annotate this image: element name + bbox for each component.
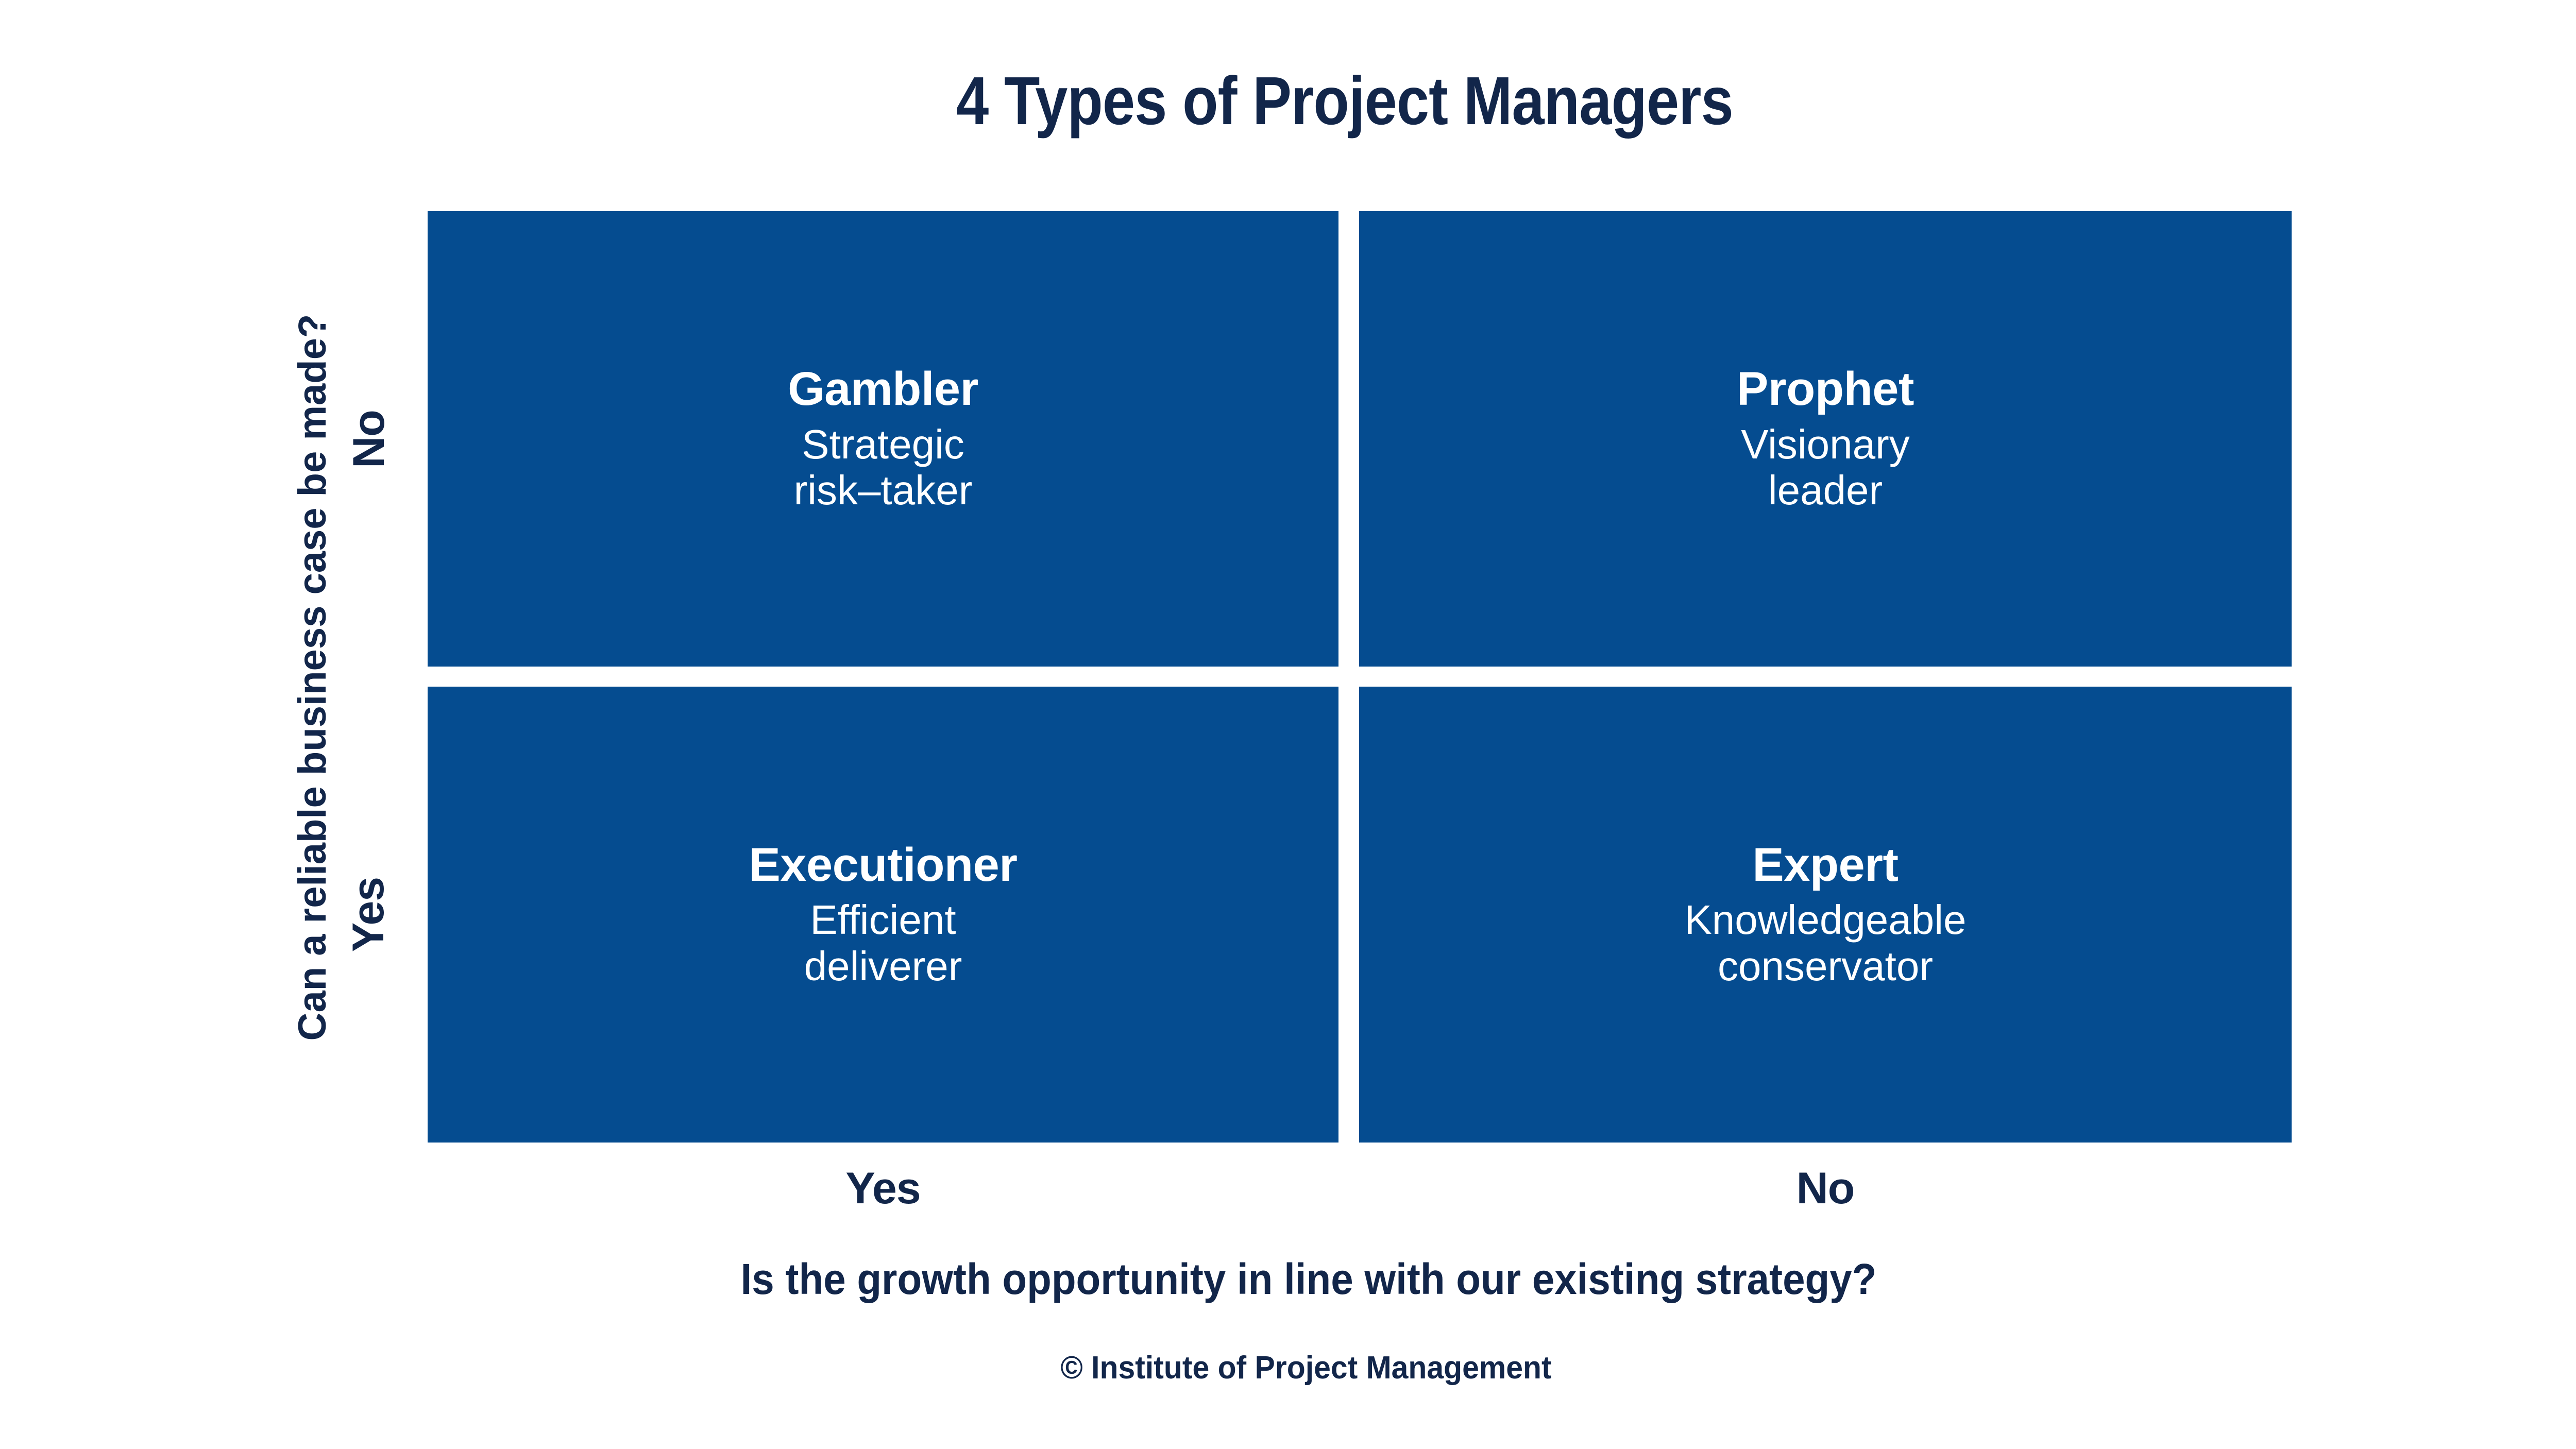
quadrant-expert: Expert Knowledgeable conservator <box>1359 687 2292 1143</box>
quadrant-gambler: Gambler Strategic risk–taker <box>428 211 1338 667</box>
quadrant-expert-description: Knowledgeable conservator <box>1684 897 1966 989</box>
quadrant-executioner-description: Efficient deliverer <box>804 897 962 989</box>
quadrant-gambler-description: Strategic risk–taker <box>794 421 973 514</box>
infographic-canvas: 4 Types of Project Managers Can a reliab… <box>0 0 2576 1449</box>
page-title: 4 Types of Project Managers <box>188 67 2501 135</box>
x-axis-tick-no: No <box>1359 1163 2292 1214</box>
quadrant-prophet-title: Prophet <box>1737 364 1914 414</box>
quadrant-executioner: Executioner Efficient deliverer <box>428 687 1338 1143</box>
quadrant-gambler-title: Gambler <box>788 364 978 414</box>
quadrant-expert-title: Expert <box>1752 840 1898 890</box>
y-axis-tick-no-label: No <box>343 410 394 468</box>
copyright-credit: © Institute of Project Management <box>65 1350 2547 1386</box>
y-axis-tick-no: No <box>338 211 400 667</box>
y-axis-tick-yes-label: Yes <box>344 877 395 951</box>
y-axis-title: Can a reliable business case be made? <box>289 211 336 1144</box>
quadrant-matrix: Gambler Strategic risk–taker Prophet Vis… <box>428 211 2271 1143</box>
quadrant-executioner-title: Executioner <box>749 840 1017 890</box>
x-axis-ticks: Yes No <box>428 1163 2271 1214</box>
quadrant-prophet-description: Visionary leader <box>1741 421 1910 514</box>
y-axis-tick-yes: Yes <box>338 687 400 1142</box>
x-axis-title: Is the growth opportunity in line with o… <box>92 1254 2526 1304</box>
x-axis-tick-yes: Yes <box>428 1163 1338 1214</box>
quadrant-prophet: Prophet Visionary leader <box>1359 211 2292 667</box>
